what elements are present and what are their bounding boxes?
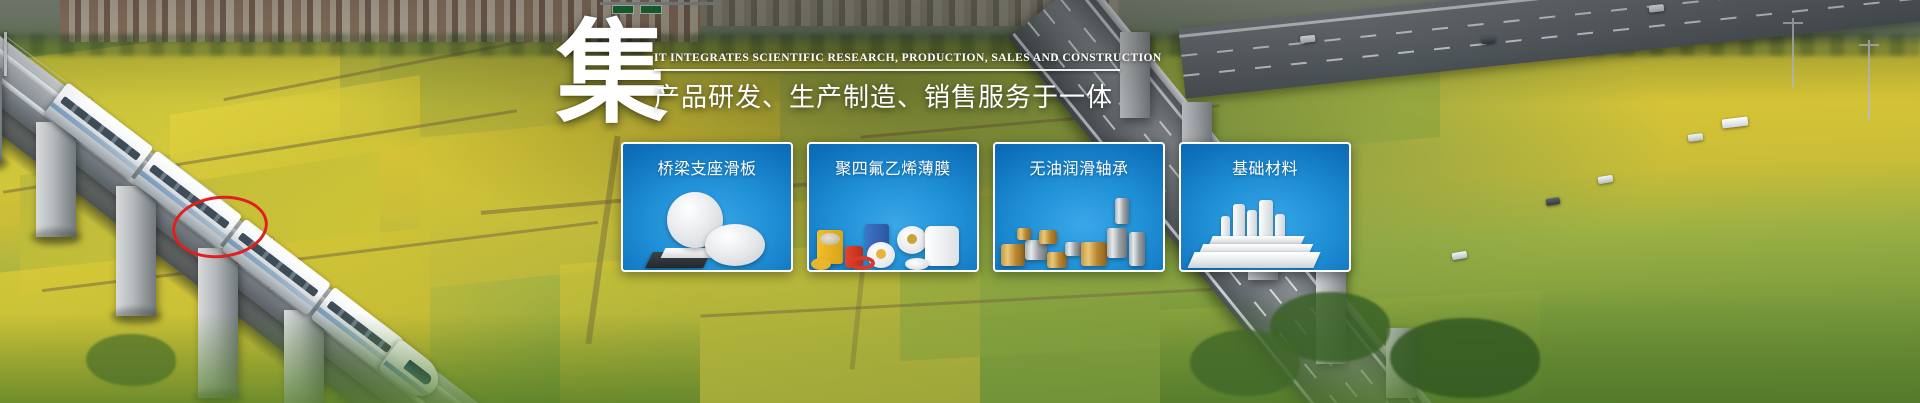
product-image-basic-materials	[1181, 178, 1349, 270]
product-card-bridge-bearing-slide-plate[interactable]: 桥梁支座滑板	[621, 142, 793, 272]
hero-banner: 集 IT INTEGRATES SCIENTIFIC RESEARCH, PRO…	[0, 0, 1920, 403]
catenary-mast	[4, 32, 7, 76]
product-card-oil-free-bearing[interactable]: 无油润滑轴承	[993, 142, 1165, 272]
product-card-list: 桥梁支座滑板 聚四氟乙烯薄膜 无油润滑轴承	[621, 142, 1351, 272]
viaduct-pier	[0, 68, 2, 163]
english-tagline: IT INTEGRATES SCIENTIFIC RESEARCH, PRODU…	[654, 52, 1154, 64]
big-character: 集	[556, 18, 668, 130]
tree-clump	[1190, 330, 1300, 396]
product-card-title: 聚四氟乙烯薄膜	[809, 144, 977, 179]
tree-clump	[86, 334, 176, 386]
utility-pole	[1792, 18, 1794, 88]
viaduct-pier	[116, 186, 156, 316]
product-card-title: 无油润滑轴承	[995, 144, 1163, 179]
product-card-basic-materials[interactable]: 基础材料	[1179, 142, 1351, 272]
product-image-ptfe-film-rolls	[809, 178, 977, 270]
product-image-bridge-bearing-slide-plate	[623, 178, 791, 270]
headline-divider	[654, 69, 1120, 71]
headline-block: 集 IT INTEGRATES SCIENTIFIC RESEARCH, PRO…	[556, 22, 1156, 132]
product-image-oil-free-bearings	[995, 178, 1163, 270]
product-card-title: 基础材料	[1181, 144, 1349, 179]
product-card-title: 桥梁支座滑板	[623, 144, 791, 179]
utility-pole	[1868, 40, 1870, 120]
chinese-tagline: 产品研发、生产制造、销售服务于一体	[654, 77, 1154, 114]
tree-clump	[1390, 318, 1540, 398]
product-card-ptfe-film[interactable]: 聚四氟乙烯薄膜	[807, 142, 979, 272]
headline-text-group: IT INTEGRATES SCIENTIFIC RESEARCH, PRODU…	[654, 52, 1154, 114]
